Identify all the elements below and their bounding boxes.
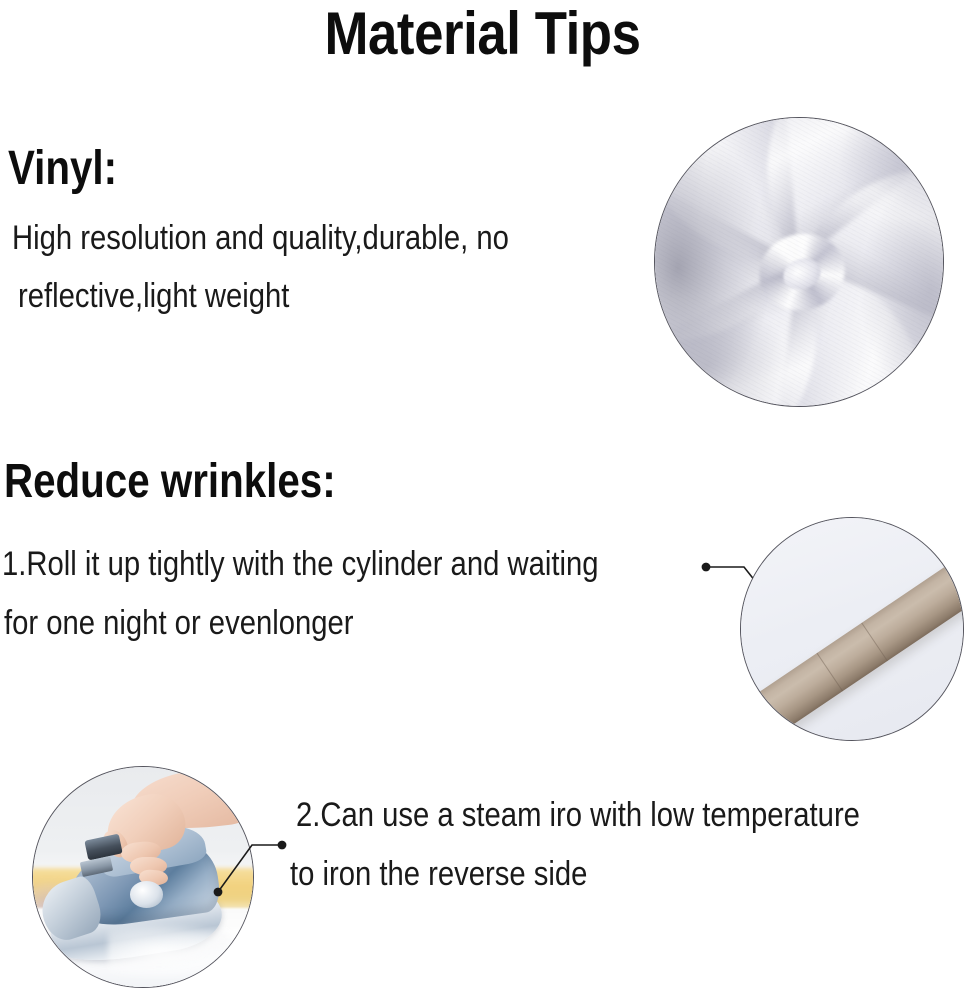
step-2-line-2: to iron the reverse side bbox=[290, 855, 587, 893]
leader-line-step-2 bbox=[196, 800, 296, 900]
leader-dot-step-2-end bbox=[278, 841, 287, 850]
vinyl-description-line-1: High resolution and quality,durable, no bbox=[12, 219, 509, 257]
fabric-weave-texture bbox=[655, 118, 943, 406]
rolled-tube-photo bbox=[740, 517, 964, 741]
step-1-line-1: 1.Roll it up tightly with the cylinder a… bbox=[2, 545, 598, 583]
vinyl-description-line-2: reflective,light weight bbox=[18, 277, 289, 315]
iron-steam-dial bbox=[130, 881, 163, 907]
step-2-line-1: 2.Can use a steam iro with low temperatu… bbox=[296, 796, 860, 834]
iron-steam-cloud bbox=[108, 925, 236, 978]
tube-seam bbox=[861, 623, 888, 662]
vinyl-heading: Vinyl: bbox=[8, 143, 117, 195]
leader-path-step-2 bbox=[218, 845, 282, 892]
reduce-wrinkles-heading: Reduce wrinkles: bbox=[4, 456, 336, 508]
page-title: Material Tips bbox=[58, 2, 907, 66]
tube-seam bbox=[817, 653, 844, 692]
material-tips-infographic: Material Tips Vinyl: High resolution and… bbox=[0, 0, 965, 1000]
fabric-swirl-photo bbox=[654, 117, 944, 407]
step-1-line-2: for one night or evenlonger bbox=[4, 604, 353, 642]
